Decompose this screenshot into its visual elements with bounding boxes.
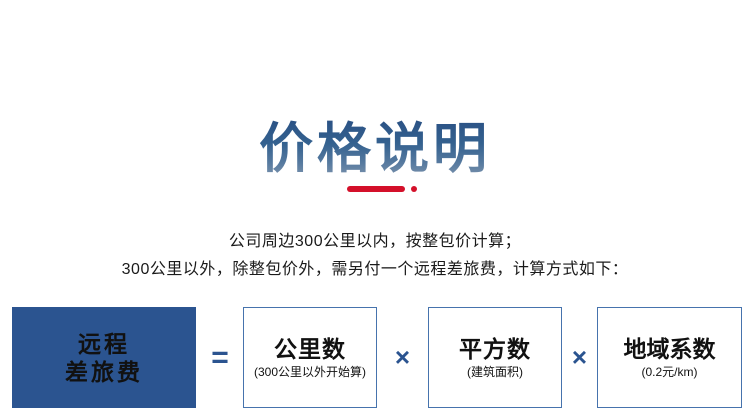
- factor-region-title: 地域系数: [624, 335, 716, 363]
- description-text: 公司周边300公里以内，按整包价计算； 300公里以外，除整包价外，需另付一个远…: [0, 228, 750, 284]
- formula-factor-distance: 公里数 (300公里以外开始算): [243, 307, 377, 408]
- factor-region-note: (0.2元/km): [641, 364, 697, 380]
- formula-result-label-line-2: 差旅费: [65, 358, 143, 386]
- equals-operator-icon: =: [198, 307, 242, 408]
- formula-row: 远程 差旅费 = 公里数 (300公里以外开始算) × 平方数 (建筑面积) ×…: [0, 307, 750, 408]
- description-line-2: 300公里以外，除整包价外，需另付一个远程差旅费，计算方式如下：: [0, 256, 750, 284]
- formula-result-box: 远程 差旅费: [12, 307, 196, 408]
- title-divider: [0, 186, 750, 194]
- divider-dot-icon: [411, 186, 417, 192]
- divider-bar-icon: [347, 186, 405, 192]
- factor-distance-title: 公里数: [274, 335, 346, 363]
- title-section: 价格说明: [0, 84, 750, 215]
- price-description-page: 价格说明 公司周边300公里以内，按整包价计算； 300公里以外，除整包价外，需…: [0, 0, 750, 416]
- factor-area-title: 平方数: [459, 335, 531, 363]
- factor-distance-note: (300公里以外开始算): [254, 364, 366, 380]
- formula-factor-region-coefficient: 地域系数 (0.2元/km): [597, 307, 742, 408]
- formula-result-label-line-1: 远程: [78, 330, 130, 358]
- factor-area-note: (建筑面积): [467, 364, 523, 380]
- multiply-operator-2-icon: ×: [562, 307, 597, 408]
- formula-factor-area: 平方数 (建筑面积): [428, 307, 562, 408]
- multiply-operator-1-icon: ×: [377, 307, 428, 408]
- description-line-1: 公司周边300公里以内，按整包价计算；: [0, 228, 750, 256]
- page-title: 价格说明: [259, 120, 491, 178]
